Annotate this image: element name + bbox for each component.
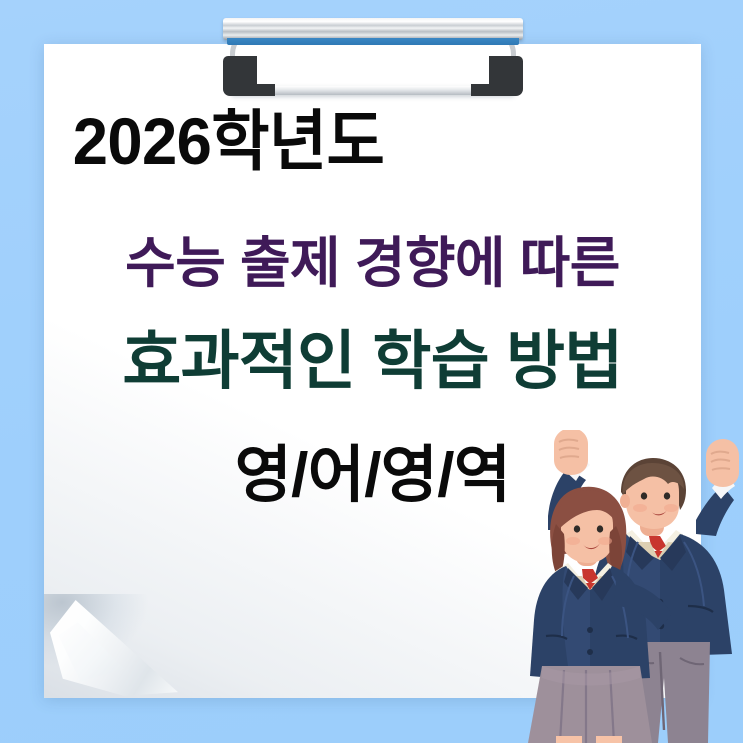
headline-line-year: 2026학년도 [44, 108, 675, 174]
female-fist [554, 430, 588, 475]
clipboard-clip [223, 18, 523, 98]
male-raised-sleeve [696, 486, 734, 536]
poster-canvas: 2026학년도 수능 출제 경향에 따른 효과적인 학습 방법 영/어/영/역 [0, 0, 743, 743]
two-students-cheering-illustration [520, 430, 743, 743]
headline-line-subtitle: 수능 출제 경향에 따른 [44, 236, 701, 291]
clip-blue-accent [227, 38, 519, 45]
male-fist [706, 439, 739, 487]
clip-metal-bar [223, 18, 523, 40]
headline-line-main: 효과적인 학습 방법 [44, 329, 701, 393]
